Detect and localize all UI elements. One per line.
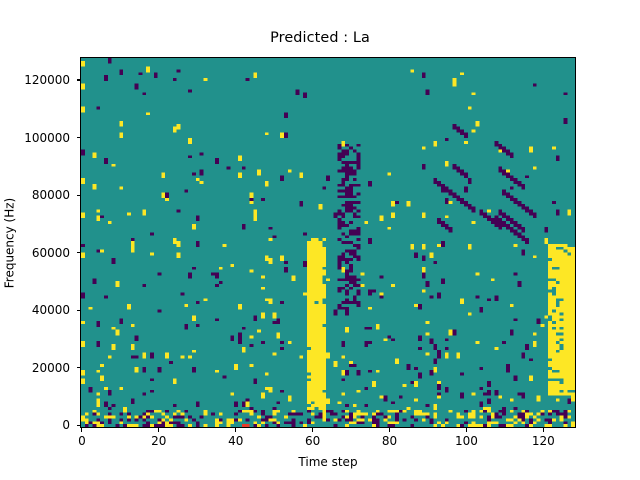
y-tick-label: 120000 [24,73,70,87]
x-tick-label: 100 [455,434,478,448]
x-tick-label: 20 [151,434,166,448]
y-tick-mark [77,79,81,80]
y-tick-mark [77,137,81,138]
y-tick-label: 60000 [32,246,70,260]
x-tick-mark [235,428,236,432]
x-tick-label: 80 [382,434,397,448]
y-tick-label: 0 [62,418,70,432]
x-tick-mark [466,428,467,432]
x-tick-mark [312,428,313,432]
y-tick-label: 20000 [32,361,70,375]
y-tick-mark [77,252,81,253]
y-axis-label-text: Frequency (Hz) [2,197,16,288]
x-axis-label: Time step [80,455,576,469]
heatmap-axes [80,57,576,428]
x-tick-mark [389,428,390,432]
y-tick-mark [77,367,81,368]
x-tick-label: 40 [228,434,243,448]
heatmap-image [81,58,575,427]
x-tick-mark [81,428,82,432]
y-tick-label: 40000 [32,303,70,317]
x-tick-label: 120 [532,434,555,448]
y-axis-label: Frequency (Hz) [0,57,18,428]
y-tick-label: 80000 [32,188,70,202]
x-tick-label: 0 [78,434,86,448]
y-tick-mark [77,310,81,311]
x-tick-mark [158,428,159,432]
page-title: Predicted : La [0,30,640,46]
y-tick-mark [77,425,81,426]
y-tick-label: 100000 [24,131,70,145]
x-tick-mark [543,428,544,432]
x-tick-label: 60 [305,434,320,448]
y-tick-mark [77,195,81,196]
figure-canvas: Predicted : La Frequency (Hz) 0200004000… [0,0,640,480]
